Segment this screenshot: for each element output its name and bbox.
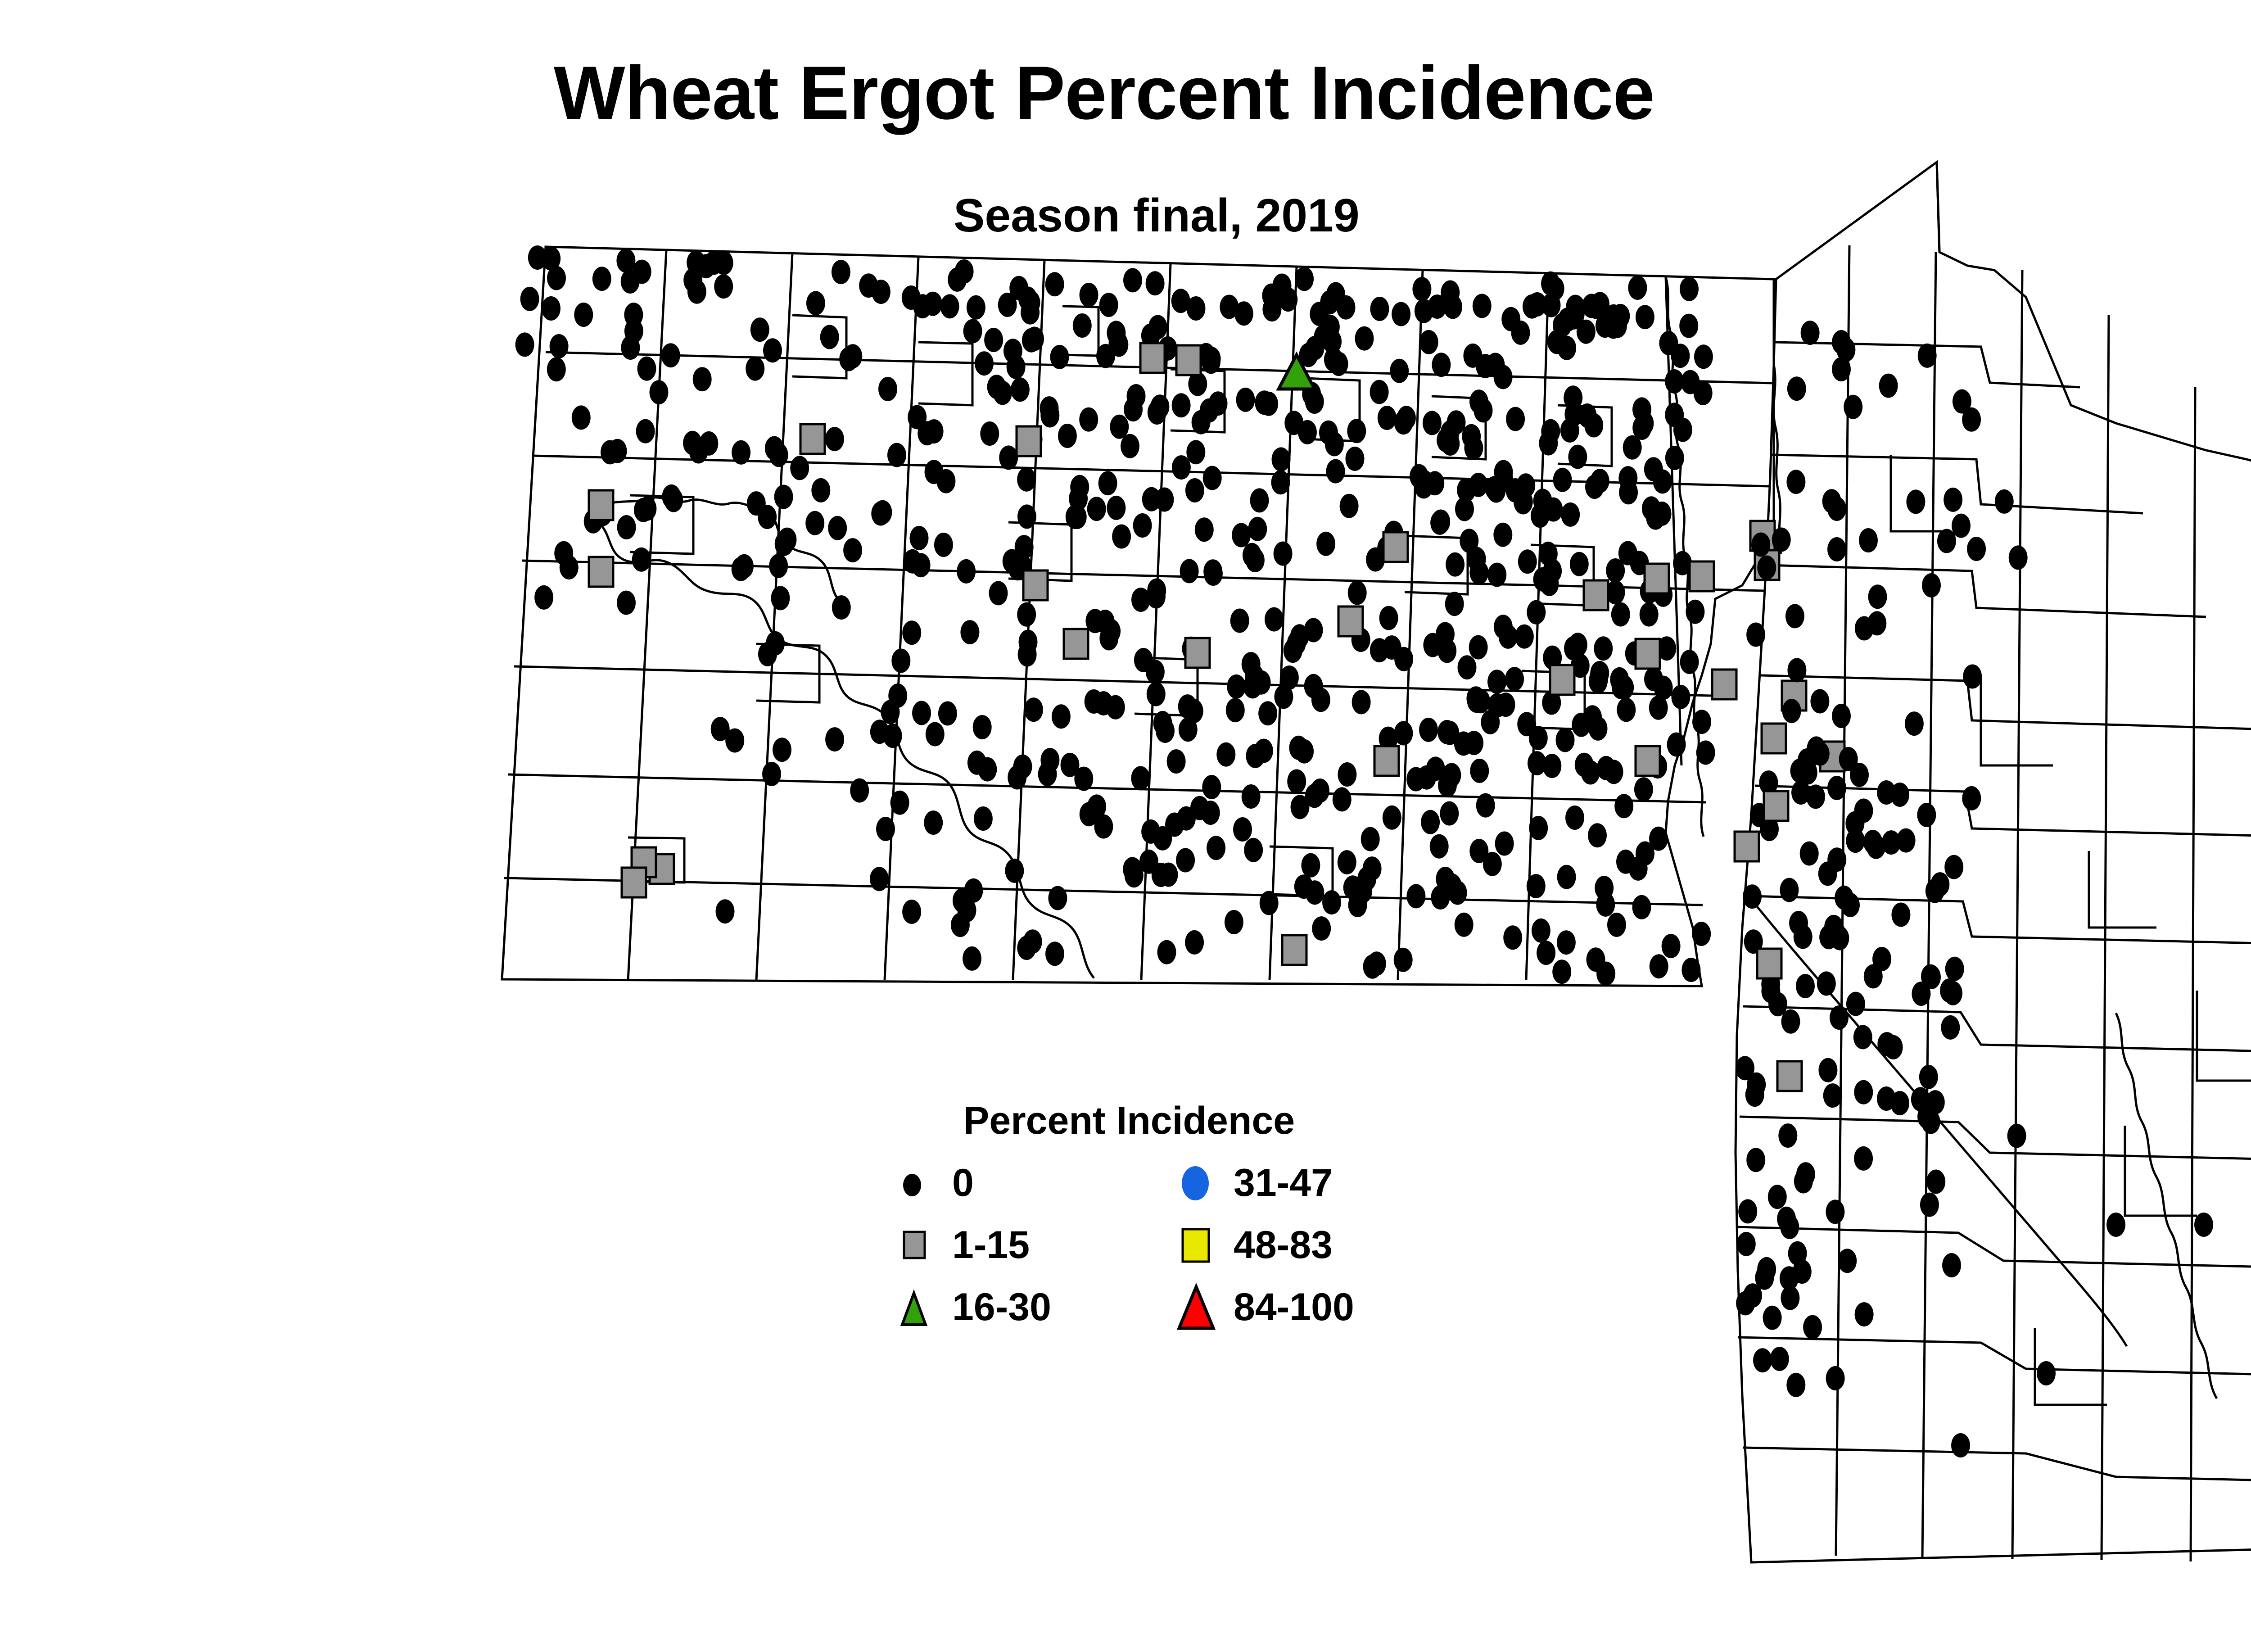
data-point-zero (1005, 859, 1024, 883)
data-point-zero (1951, 1433, 1970, 1457)
data-point-zero (828, 516, 847, 540)
data-point-zero (1412, 277, 1431, 301)
data-point-zero (1487, 563, 1506, 587)
data-point-zero (1333, 787, 1352, 811)
data-point-layer (0, 0, 2251, 1652)
data-point-zero (1962, 786, 1981, 810)
data-point-zero (1618, 466, 1637, 490)
data-point-zero (1905, 711, 1924, 736)
data-point-zero (777, 528, 796, 552)
data-point-zero (1868, 584, 1887, 609)
data-point-zero (1692, 710, 1711, 734)
data-point-zero (925, 460, 944, 484)
data-point-zero (1537, 941, 1555, 965)
data-point-low (1550, 665, 1574, 695)
data-point-zero (1284, 411, 1303, 435)
data-point-zero (1922, 965, 1941, 989)
data-point-zero (528, 245, 547, 270)
data-point-zero (1850, 763, 1869, 787)
data-point-zero (1518, 549, 1537, 574)
data-point-zero (1003, 549, 1022, 573)
legend-label-2: 16-30 (952, 1285, 1051, 1330)
data-point-zero (572, 405, 591, 430)
data-point-zero (774, 485, 793, 509)
data-point-zero (550, 334, 569, 358)
legend-label-0: 0 (952, 1161, 974, 1205)
data-point-zero (1827, 497, 1846, 521)
data-point-zero (1203, 466, 1222, 490)
data-point-zero (1209, 391, 1228, 416)
data-point-zero (1338, 850, 1356, 874)
data-point-zero (891, 649, 910, 673)
data-point-zero (1743, 884, 1762, 909)
data-point-zero (1879, 374, 1898, 398)
data-point-zero (1419, 330, 1438, 354)
data-point-zero (806, 291, 825, 315)
legend-symbol-square (896, 1219, 945, 1269)
data-point-zero (1523, 294, 1541, 319)
data-point-low (589, 557, 613, 587)
data-point-zero (987, 375, 1006, 399)
data-point-zero (1515, 625, 1534, 649)
data-point-zero (918, 421, 936, 445)
data-point-zero (1148, 400, 1166, 425)
data-point-zero (1800, 842, 1819, 866)
data-point-zero (1147, 682, 1166, 706)
data-point-zero (1552, 960, 1571, 984)
data-point-zero (1995, 489, 2014, 514)
data-point-zero (1499, 625, 1518, 649)
data-point-zero (1147, 584, 1166, 609)
data-point-zero (1789, 911, 1808, 935)
data-point-zero (735, 554, 754, 579)
data-point-zero (1607, 913, 1626, 937)
legend-item-1-15: 1-15 (896, 1219, 1148, 1273)
data-point-zero (1316, 532, 1335, 556)
data-point-zero (1476, 793, 1495, 818)
data-point-zero (850, 778, 869, 803)
data-point-zero (1940, 978, 1959, 1003)
data-point-zero (1753, 1348, 1772, 1372)
data-point-zero (1446, 552, 1465, 577)
data-point-zero (1124, 397, 1143, 421)
data-point-zero (634, 498, 653, 522)
data-point-low (800, 424, 825, 454)
data-point-zero (1390, 359, 1409, 383)
data-point-zero (1099, 293, 1118, 317)
data-point-zero (1671, 685, 1690, 709)
data-point-zero (1541, 419, 1560, 444)
data-point-zero (876, 817, 895, 841)
data-point-zero (1736, 1291, 1755, 1315)
data-point-zero (1838, 1249, 1857, 1273)
data-point-zero (1737, 1232, 1756, 1256)
data-point-zero (1649, 827, 1668, 851)
data-point-zero (601, 440, 619, 464)
data-point-zero (902, 285, 921, 310)
data-point-zero (1777, 1207, 1796, 1231)
data-point-zero (1503, 925, 1522, 950)
data-point-zero (1632, 895, 1651, 919)
data-point-low (1185, 638, 1210, 668)
data-point-zero (1780, 878, 1799, 902)
legend-symbol-circle-small (896, 1157, 945, 1207)
data-point-zero (1636, 305, 1654, 329)
data-point-zero (1322, 890, 1341, 914)
data-point-zero (1529, 816, 1548, 840)
data-point-zero (1746, 623, 1765, 647)
data-point-zero (1588, 823, 1607, 847)
data-point-zero (1761, 979, 1780, 1003)
data-point-zero (1017, 936, 1036, 960)
data-point-zero (1363, 856, 1382, 881)
data-point-zero (1311, 688, 1330, 712)
data-point-zero (1040, 396, 1059, 421)
data-point-zero (1464, 436, 1483, 460)
data-point-zero (1926, 1170, 1945, 1194)
data-point-zero (1872, 947, 1891, 971)
data-point-zero (1392, 302, 1410, 326)
data-point-zero (1662, 934, 1681, 958)
data-point-low (1645, 564, 1669, 593)
data-point-zero (1827, 847, 1846, 872)
data-point-zero (554, 541, 573, 566)
data-point-zero (1069, 486, 1088, 511)
data-point-zero (1827, 921, 1846, 946)
data-point-zero (1167, 749, 1186, 774)
data-point-zero (1692, 922, 1711, 946)
data-point-zero (1079, 407, 1098, 432)
data-point-zero (1099, 626, 1118, 651)
data-point-zero (1827, 776, 1846, 800)
data-point-zero (1553, 468, 1572, 492)
data-point-zero (1131, 766, 1150, 790)
data-point-zero (1107, 321, 1125, 345)
data-point-zero (732, 440, 750, 465)
data-point-zero (1272, 447, 1291, 471)
data-point-zero (2037, 1361, 2056, 1385)
data-point-zero (1930, 872, 1949, 896)
data-point-low (1636, 746, 1660, 776)
data-point-zero (1139, 850, 1158, 874)
data-point-zero (832, 595, 851, 620)
data-point-zero (1841, 893, 1860, 917)
data-point-zero (1505, 667, 1524, 691)
data-point-zero (1786, 470, 1805, 494)
data-point-zero (1855, 616, 1874, 641)
data-point-zero (1469, 389, 1488, 414)
data-point-zero (542, 296, 560, 321)
data-point-zero (888, 683, 907, 708)
data-point-zero (1561, 502, 1580, 527)
data-point-zero (1242, 652, 1261, 676)
data-point-zero (1486, 353, 1505, 377)
data-point-zero (1305, 389, 1324, 414)
data-point-zero (1533, 567, 1552, 592)
data-point-zero (1153, 711, 1172, 735)
data-point-zero (978, 757, 997, 782)
data-point-zero (1617, 697, 1636, 722)
data-point-zero (1810, 689, 1829, 714)
data-point-zero (964, 878, 983, 903)
data-point-zero (1050, 345, 1069, 369)
data-point-zero (1665, 403, 1684, 427)
data-point-zero (2194, 1213, 2213, 1237)
data-point-zero (1254, 739, 1273, 763)
data-point-zero (1458, 655, 1477, 679)
data-point-low (1712, 670, 1736, 699)
data-point-zero (1920, 1193, 1939, 1217)
data-point-zero (1011, 377, 1030, 402)
data-point-zero (1568, 445, 1587, 469)
data-point-zero (1236, 388, 1255, 412)
data-point-zero (973, 715, 992, 739)
data-point-zero (1635, 411, 1654, 435)
data-point-zero (1528, 751, 1546, 775)
data-point-zero (1772, 528, 1791, 552)
data-point-zero (1501, 307, 1520, 331)
data-point-zero (1642, 496, 1661, 520)
data-point-zero (1587, 947, 1605, 972)
data-point-zero (1045, 272, 1064, 296)
data-point-zero (1506, 407, 1525, 431)
data-point-zero (1234, 301, 1253, 326)
data-point-zero (1087, 497, 1106, 521)
data-point-zero (1846, 992, 1865, 1016)
legend-symbol-triangle-large (1177, 1281, 1227, 1331)
data-point-zero (1007, 355, 1026, 379)
data-point-zero (1294, 874, 1313, 899)
data-point-zero (1785, 604, 1804, 628)
data-point-zero (1680, 277, 1699, 301)
data-point-zero (1274, 542, 1293, 566)
legend-item-31-47: 31-47 (1177, 1157, 1429, 1211)
data-point-zero (999, 445, 1018, 470)
data-point-zero (1757, 1257, 1776, 1281)
data-point-zero (1123, 268, 1142, 292)
data-point-zero (1216, 742, 1235, 767)
data-point-zero (1565, 806, 1584, 830)
data-point-zero (1527, 600, 1546, 625)
data-point-zero (1445, 592, 1464, 616)
data-point-zero (687, 250, 705, 275)
data-point-zero (1265, 607, 1284, 632)
data-point-zero (934, 533, 953, 557)
data-point-zero (1919, 1065, 1938, 1089)
data-point-zero (1863, 830, 1882, 854)
data-point-zero (902, 620, 921, 645)
data-point-zero (1242, 784, 1261, 809)
data-point-zero (1846, 828, 1865, 853)
data-point-low (589, 490, 613, 520)
data-point-zero (1612, 675, 1631, 699)
data-point-zero (890, 791, 909, 815)
data-point-zero (1455, 913, 1474, 937)
data-point-low (1383, 532, 1408, 562)
data-point-zero (1326, 282, 1345, 307)
data-point-zero (1817, 971, 1836, 996)
data-point-zero (1430, 834, 1449, 859)
data-point-zero (1379, 606, 1398, 630)
data-point-zero (963, 946, 981, 971)
data-point-low (1636, 639, 1660, 669)
data-point-zero (1788, 1241, 1807, 1266)
data-point-zero (1279, 287, 1297, 312)
data-point-zero (1827, 537, 1846, 561)
data-point-zero (1790, 759, 1809, 783)
data-point-zero (1087, 794, 1106, 819)
data-point-zero (1469, 635, 1488, 660)
data-point-zero (1203, 559, 1222, 584)
data-point-zero (1192, 410, 1211, 434)
data-point-zero (1185, 930, 1204, 955)
data-point-zero (1952, 514, 1971, 538)
data-point-zero (1394, 647, 1413, 671)
data-point-zero (1074, 767, 1093, 791)
data-point-zero (1096, 344, 1115, 368)
data-point-zero (878, 377, 897, 401)
legend: Percent Incidence 0 1-15 16-30 31-47 (896, 1099, 1436, 1351)
data-point-zero (1796, 1162, 1815, 1186)
data-point-zero (1348, 581, 1367, 605)
data-point-zero (1146, 271, 1165, 295)
data-point-zero (1430, 511, 1449, 535)
data-point-zero (1694, 344, 1713, 369)
data-point-zero (687, 280, 706, 304)
data-point-zero (1048, 886, 1067, 910)
data-point-low (1584, 580, 1608, 610)
data-point-zero (1844, 395, 1862, 419)
data-point-zero (1547, 330, 1566, 354)
data-point-zero (1962, 407, 1981, 432)
data-point-zero (926, 722, 945, 747)
data-point-low (1064, 629, 1088, 659)
data-point-zero (1495, 832, 1514, 856)
data-point-zero (1022, 290, 1040, 315)
data-point-zero (1581, 760, 1600, 785)
data-point-zero (1133, 513, 1152, 538)
data-point-zero (1564, 305, 1583, 330)
data-point-zero (574, 303, 593, 327)
data-point-zero (1922, 573, 1941, 597)
data-point-zero (1557, 930, 1576, 955)
data-point-zero (624, 319, 643, 343)
data-point-zero (974, 806, 993, 831)
data-point-zero (1347, 419, 1366, 443)
data-point-zero (1258, 701, 1277, 725)
data-point-zero (1394, 410, 1413, 434)
data-point-zero (1295, 739, 1314, 764)
data-point-zero (1325, 432, 1344, 456)
data-point-zero (1301, 853, 1320, 878)
data-point-zero (1830, 1005, 1849, 1030)
data-point-zero (547, 266, 566, 290)
data-point-zero (1058, 424, 1077, 448)
data-point-zero (1854, 1080, 1873, 1104)
legend-label-5: 84-100 (1234, 1285, 1354, 1330)
data-point-zero (1786, 1373, 1805, 1397)
data-point-zero (1017, 504, 1036, 529)
data-point-zero (1770, 1347, 1789, 1371)
data-point-zero (1470, 759, 1489, 783)
data-point-zero (1628, 276, 1647, 300)
data-point-zero (1826, 1366, 1845, 1390)
data-point-zero (1157, 940, 1176, 964)
data-point-zero (1918, 344, 1937, 368)
data-point-zero (1696, 741, 1715, 765)
data-point-zero (1778, 1123, 1797, 1148)
data-point-zero (1260, 891, 1279, 915)
data-point-zero (1094, 691, 1113, 715)
data-point-zero (1967, 537, 1986, 561)
data-point-zero (1323, 330, 1342, 354)
data-point-zero (1854, 1146, 1873, 1171)
data-point-zero (1383, 806, 1401, 830)
data-point-zero (1941, 1015, 1960, 1040)
data-point-zero (1155, 488, 1174, 512)
data-point-zero (832, 260, 850, 284)
data-point-zero (1248, 517, 1267, 541)
map-figure: Wheat Ergot Percent Incidence Season fin… (0, 0, 2251, 1652)
data-point-zero (1312, 916, 1331, 941)
data-point-zero (924, 810, 943, 835)
data-point-zero (805, 511, 824, 535)
data-point-zero (1018, 643, 1037, 667)
data-point-zero (1271, 470, 1290, 494)
data-point-zero (683, 431, 702, 455)
data-point-zero (1022, 328, 1041, 353)
data-point-zero (1832, 357, 1851, 381)
data-point-zero (1653, 469, 1672, 493)
data-point-zero (1855, 1302, 1874, 1326)
data-point-zero (1326, 459, 1345, 484)
data-point-zero (1589, 670, 1608, 694)
data-point-zero (1556, 728, 1575, 752)
data-point-zero (1650, 954, 1668, 978)
data-point-zero (1747, 1073, 1766, 1097)
data-point-zero (1419, 718, 1438, 742)
data-point-zero (1527, 874, 1546, 898)
data-point-zero (870, 867, 889, 891)
data-point-zero (1649, 696, 1668, 720)
data-point-zero (1225, 910, 1243, 934)
data-point-zero (1295, 267, 1314, 291)
data-point-zero (1017, 467, 1036, 492)
data-point-zero (2007, 1124, 2026, 1148)
data-point-zero (989, 581, 1008, 605)
data-point-zero (1826, 1199, 1844, 1224)
data-point-zero (714, 251, 733, 275)
data-point-zero (1370, 380, 1389, 404)
data-point-zero (1370, 638, 1389, 662)
data-point-zero (940, 294, 959, 318)
legend-symbol-triangle (896, 1281, 945, 1331)
data-point-zero (1854, 799, 1873, 823)
data-point-zero (1180, 559, 1199, 583)
data-point-zero (515, 332, 534, 357)
data-point-zero (1423, 411, 1442, 435)
data-point-zero (1787, 658, 1806, 682)
data-point-zero (1644, 667, 1663, 691)
data-point-zero (1287, 769, 1306, 794)
data-point-zero (1659, 331, 1678, 355)
data-point-zero (592, 267, 611, 291)
data-point-zero (1052, 704, 1071, 729)
data-point-zero (825, 727, 844, 751)
data-point-zero (1665, 446, 1684, 470)
data-point-zero (1570, 552, 1589, 576)
data-point-low (1762, 724, 1786, 753)
